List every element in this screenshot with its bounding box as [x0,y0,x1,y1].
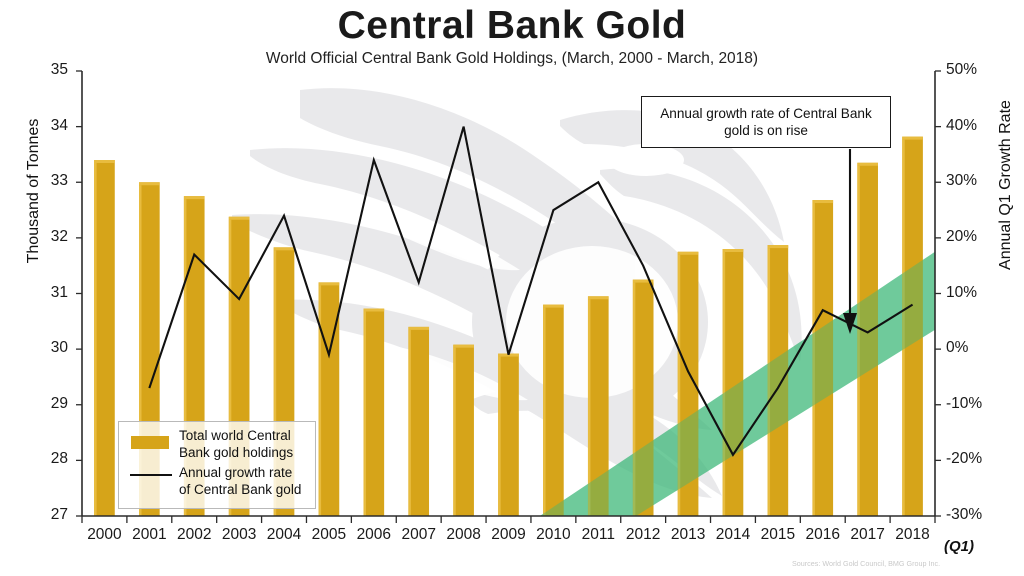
bar-top-highlight [139,182,160,185]
bar [363,309,384,516]
bar-left-highlight [723,252,726,516]
bar-top-highlight [902,137,923,140]
chart-legend[interactable]: Total world Central Bank gold holdings A… [118,421,316,509]
legend-line-label-line1: Annual growth rate [179,465,292,480]
x-axis-q1-note: (Q1) [944,538,974,555]
bar-top-highlight [588,296,609,299]
bar-top-highlight [768,245,789,248]
x-tick-label: 2018 [885,526,941,544]
legend-bar-label-line2: Bank gold holdings [179,445,293,460]
bar-left-highlight [543,308,546,516]
right-tick-label: 40% [946,117,998,135]
left-tick-label: 28 [28,450,68,468]
bar [453,345,474,516]
bar-top-highlight [94,160,115,163]
bar-top-highlight [453,345,474,348]
left-tick-label: 35 [28,61,68,79]
right-tick-label: 10% [946,284,998,302]
annotation-callout[interactable]: Annual growth rate of Central Bank gold … [641,96,891,148]
bar-top-highlight [857,163,878,166]
x-axis-ticks [82,516,935,523]
legend-bar-swatch [131,436,169,449]
right-tick-label: -20% [946,450,998,468]
left-tick-label: 34 [28,117,68,135]
right-tick-label: 50% [946,61,998,79]
left-tick-label: 31 [28,284,68,302]
bar-left-highlight [408,330,411,516]
bar [498,354,519,516]
bar-top-highlight [408,327,429,330]
bar-top-highlight [184,196,205,199]
left-tick-label: 33 [28,172,68,190]
bar-top-highlight [543,305,564,308]
annotation-callout-text: Annual growth rate of Central Bank gold … [642,105,890,139]
bar-left-highlight [94,163,97,516]
right-tick-label: -30% [946,506,998,524]
left-tick-label: 29 [28,395,68,413]
bar [94,160,115,516]
bar-top-highlight [812,200,833,203]
right-axis-ticks [935,71,941,516]
bar [408,327,429,516]
bar-left-highlight [453,348,456,516]
bar-top-highlight [319,282,340,285]
bar-left-highlight [363,312,366,516]
legend-line-label-line2: of Central Bank gold [179,482,301,497]
bar-top-highlight [363,309,384,312]
bar-top-highlight [723,249,744,252]
chart-container: Central Bank Gold World Official Central… [0,0,1024,576]
left-tick-label: 30 [28,339,68,357]
right-tick-label: 30% [946,172,998,190]
bar-left-highlight [498,357,501,516]
bar [319,282,340,516]
legend-line-swatch [130,474,172,476]
bar-left-highlight [319,285,322,516]
bar [543,305,564,516]
left-axis-ticks [76,71,82,516]
bar-top-highlight [678,252,699,255]
left-tick-label: 27 [28,506,68,524]
legend-bar-label-line1: Total world Central [179,428,291,443]
bar-top-highlight [274,247,295,250]
source-credit: Sources: World Gold Council, BMG Group I… [792,559,940,568]
right-tick-label: 20% [946,228,998,246]
right-tick-label: 0% [946,339,998,357]
right-tick-label: -10% [946,395,998,413]
bar-top-highlight [229,217,250,220]
left-tick-label: 32 [28,228,68,246]
